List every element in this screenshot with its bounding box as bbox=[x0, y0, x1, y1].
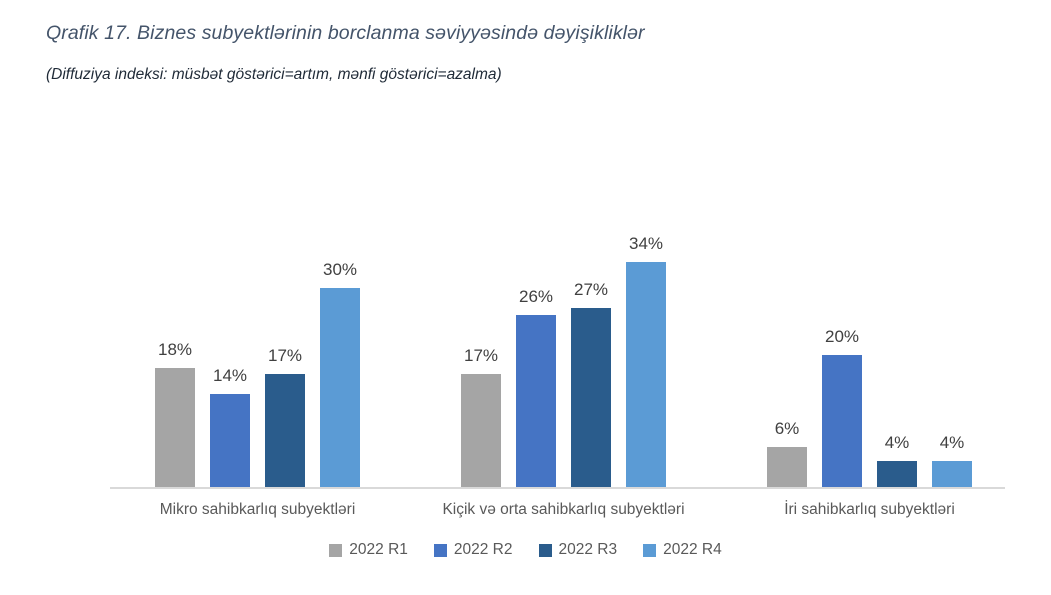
bar-value-label: 4% bbox=[917, 433, 987, 453]
bar[interactable] bbox=[320, 288, 360, 487]
bar-value-label: 30% bbox=[305, 260, 375, 280]
legend-item-label: 2022 R4 bbox=[663, 541, 722, 559]
legend-swatch-icon bbox=[643, 544, 656, 557]
bar-value-label: 17% bbox=[446, 346, 516, 366]
legend-item-label: 2022 R2 bbox=[454, 541, 513, 559]
legend-item[interactable]: 2022 R4 bbox=[643, 541, 722, 559]
bar[interactable] bbox=[571, 308, 611, 487]
bar[interactable] bbox=[461, 374, 501, 487]
bar[interactable] bbox=[265, 374, 305, 487]
legend-item[interactable]: 2022 R3 bbox=[539, 541, 618, 559]
legend-swatch-icon bbox=[329, 544, 342, 557]
legend-swatch-icon bbox=[539, 544, 552, 557]
legend-item-label: 2022 R1 bbox=[349, 541, 408, 559]
legend-item[interactable]: 2022 R1 bbox=[329, 541, 408, 559]
legend-item[interactable]: 2022 R2 bbox=[434, 541, 513, 559]
bar[interactable] bbox=[516, 315, 556, 487]
bar[interactable] bbox=[210, 394, 250, 487]
chart-plot-area: 18%14%17%30%17%26%27%34%6%20%4%4% Mikro … bbox=[0, 0, 1051, 595]
bar[interactable] bbox=[767, 447, 807, 487]
bar[interactable] bbox=[155, 368, 195, 487]
bar[interactable] bbox=[877, 461, 917, 487]
bar-value-label: 18% bbox=[140, 340, 210, 360]
bar-value-label: 14% bbox=[195, 366, 265, 386]
bar[interactable] bbox=[822, 355, 862, 487]
bar[interactable] bbox=[932, 461, 972, 487]
bar-value-label: 6% bbox=[752, 419, 822, 439]
bar-value-label: 27% bbox=[556, 280, 626, 300]
legend-item-label: 2022 R3 bbox=[559, 541, 618, 559]
bar-value-label: 20% bbox=[807, 327, 877, 347]
bar[interactable] bbox=[626, 262, 666, 487]
legend-swatch-icon bbox=[434, 544, 447, 557]
bar-value-label: 34% bbox=[611, 234, 681, 254]
category-label: İri sahibkarlıq subyektləri bbox=[670, 501, 1051, 519]
chart-legend: 2022 R12022 R22022 R32022 R4 bbox=[0, 541, 1051, 559]
bar-value-label: 17% bbox=[250, 346, 320, 366]
